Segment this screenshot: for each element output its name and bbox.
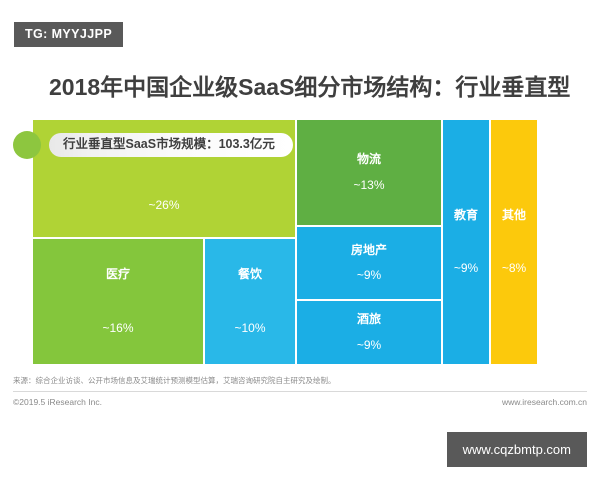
treemap-cell-label: 房地产 [351,244,387,257]
treemap-cell-logistics[interactable]: 物流 ~13% [296,119,442,226]
legend-dot-icon [13,131,41,159]
treemap-cell-value: ~9% [357,269,381,282]
treemap-cell-label: 其他 [502,209,526,222]
treemap-cell-label: 物流 [357,153,381,166]
treemap-cell-value: ~16% [102,322,133,335]
treemap-cell-catering[interactable]: 餐饮 ~10% [204,238,296,365]
footer-bottom-row: ©2019.5 iResearch Inc. www.iresearch.com… [13,392,587,407]
page-title: 2018年中国企业级SaaS细分市场结构：行业垂直型 [49,68,570,102]
treemap-cell-value: ~9% [357,339,381,352]
footer-website-url: www.iresearch.com.cn [502,397,587,407]
top-watermark-badge: TG: MYYJJPP [14,22,123,47]
treemap-cell-label: 医疗 [106,268,130,281]
legend: 行业垂直型SaaS市场规模：103.3亿元 [13,131,293,159]
legend-label: 行业垂直型SaaS市场规模：103.3亿元 [49,133,293,158]
treemap-cell-value: ~13% [353,179,384,192]
treemap-cell-real-estate[interactable]: 房地产 ~9% [296,226,442,300]
treemap-cell-value: ~10% [234,322,265,335]
treemap-cell-education[interactable]: 教育 ~9% [442,119,490,365]
treemap-cell-value: ~9% [454,262,478,275]
bottom-watermark-badge: www.cqzbmtp.com [447,432,587,467]
treemap-cell-other[interactable]: 其他 ~8% [490,119,538,365]
footer-copyright: ©2019.5 iResearch Inc. [13,397,102,407]
treemap-cell-label: 餐饮 [238,268,262,281]
treemap-cell-hotel-travel[interactable]: 酒旅 ~9% [296,300,442,365]
treemap-cell-label: 教育 [454,209,478,222]
footer-source-note: 来源：综合企业访谈、公开市场信息及艾瑞统计预测模型估算，艾瑞咨询研究院自主研究及… [13,376,587,391]
treemap-cell-value: ~8% [502,262,526,275]
treemap-cell-label: 酒旅 [357,313,381,326]
treemap-cell-value: ~26% [148,199,179,212]
treemap-cell-medical[interactable]: 医疗 ~16% [32,238,204,365]
footer: 来源：综合企业访谈、公开市场信息及艾瑞统计预测模型估算，艾瑞咨询研究院自主研究及… [13,376,587,407]
